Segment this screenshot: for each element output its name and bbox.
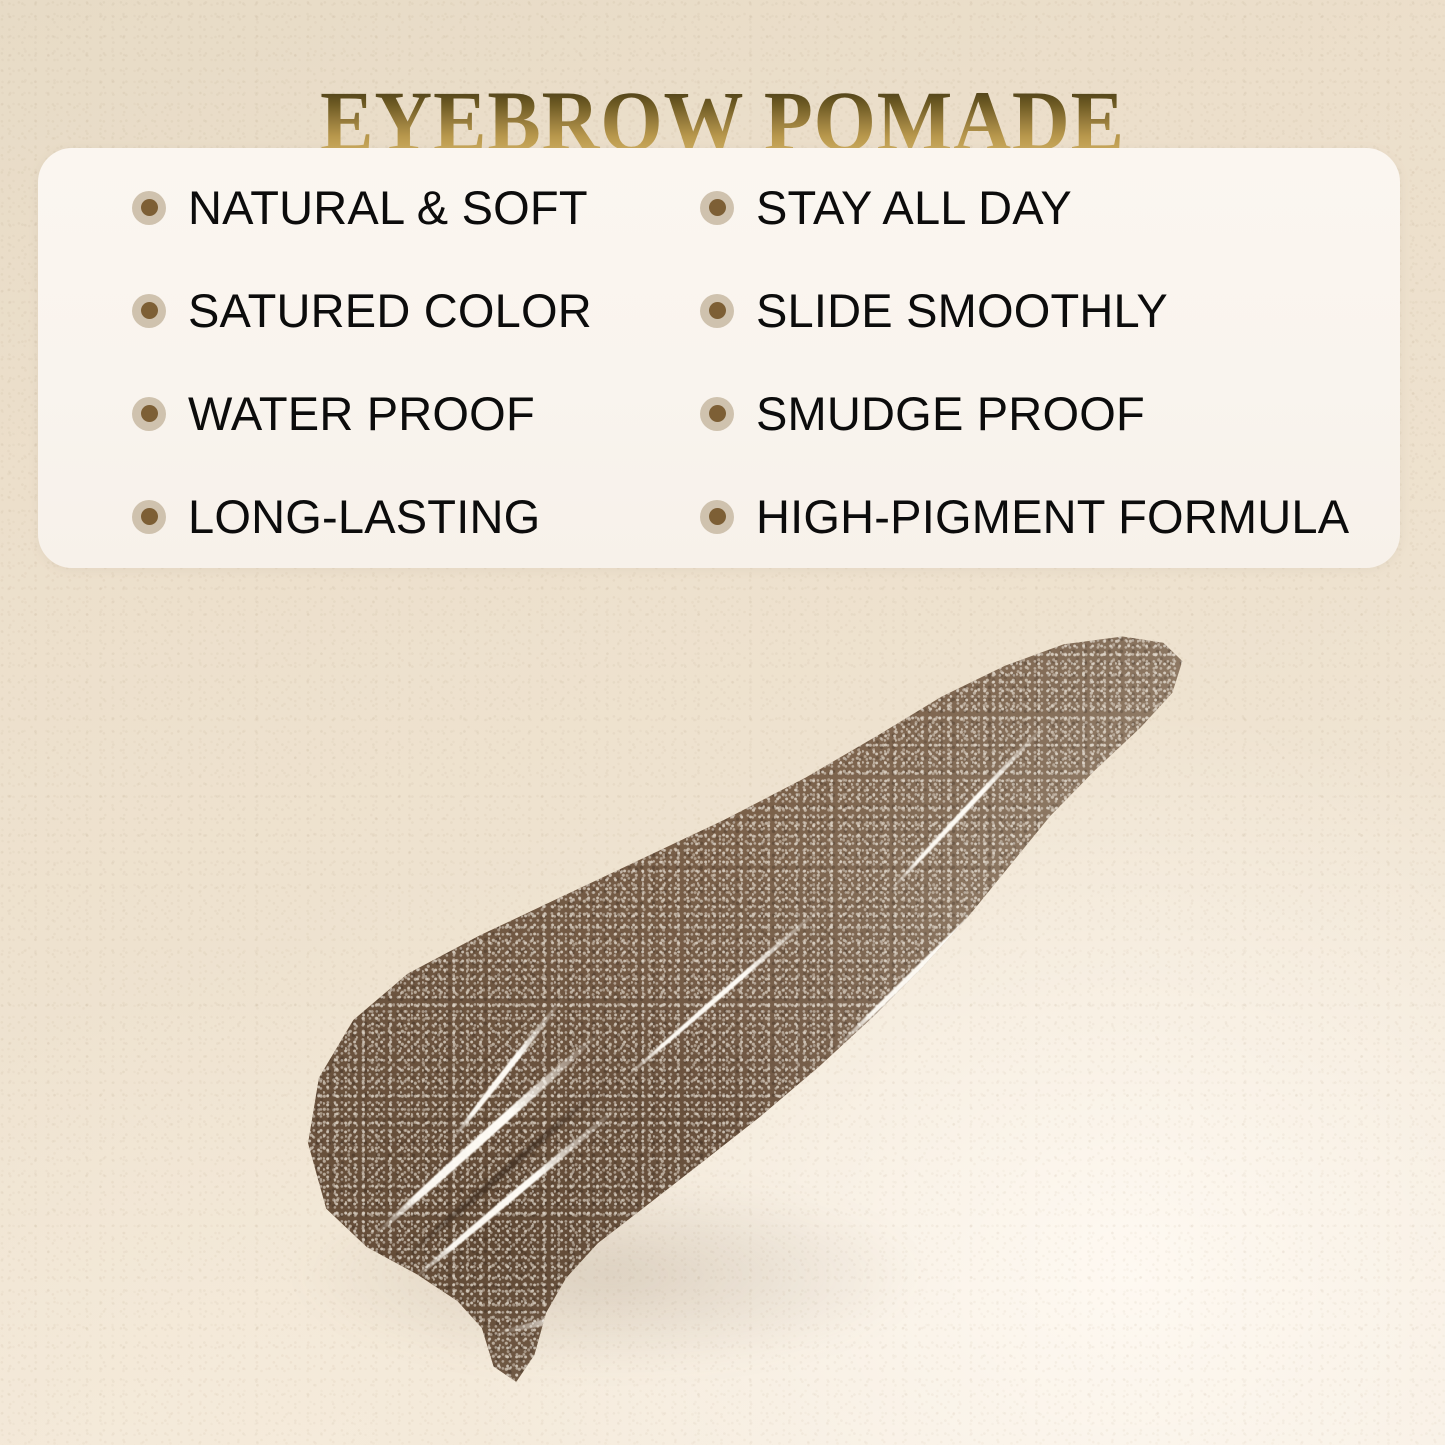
filled-dot-icon <box>700 500 734 534</box>
feature-grid: NATURAL & SOFT STAY ALL DAY SATURED COLO… <box>38 148 1400 568</box>
product-infographic: EYEBROW POMADE NATURAL & SOFT STAY ALL D… <box>0 0 1445 1445</box>
feature-item-satured-color: SATURED COLOR <box>38 283 686 338</box>
feature-label: HIGH-PIGMENT FORMULA <box>756 489 1349 544</box>
feature-item-natural-soft: NATURAL & SOFT <box>38 180 686 235</box>
filled-dot-icon <box>132 397 166 431</box>
feature-label: LONG-LASTING <box>188 489 540 544</box>
filled-dot-icon <box>700 294 734 328</box>
feature-item-slide-smoothly: SLIDE SMOOTHLY <box>686 283 1400 338</box>
feature-item-long-lasting: LONG-LASTING <box>38 489 686 544</box>
swatch-ridge-highlights <box>290 635 1195 1405</box>
feature-label: WATER PROOF <box>188 386 535 441</box>
filled-dot-icon <box>132 191 166 225</box>
filled-dot-icon <box>700 397 734 431</box>
filled-dot-icon <box>132 500 166 534</box>
feature-label: SMUDGE PROOF <box>756 386 1145 441</box>
pomade-swatch-image <box>290 635 1195 1405</box>
feature-item-water-proof: WATER PROOF <box>38 386 686 441</box>
feature-label: NATURAL & SOFT <box>188 180 588 235</box>
filled-dot-icon <box>132 294 166 328</box>
feature-label: SATURED COLOR <box>188 283 592 338</box>
feature-list-card: NATURAL & SOFT STAY ALL DAY SATURED COLO… <box>38 148 1400 568</box>
feature-item-smudge-proof: SMUDGE PROOF <box>686 386 1400 441</box>
product-swatch-area <box>0 580 1445 1445</box>
feature-label: SLIDE SMOOTHLY <box>756 283 1168 338</box>
filled-dot-icon <box>700 191 734 225</box>
feature-item-stay-all-day: STAY ALL DAY <box>686 180 1400 235</box>
feature-item-high-pigment-formula: HIGH-PIGMENT FORMULA <box>686 489 1400 544</box>
feature-label: STAY ALL DAY <box>756 180 1072 235</box>
